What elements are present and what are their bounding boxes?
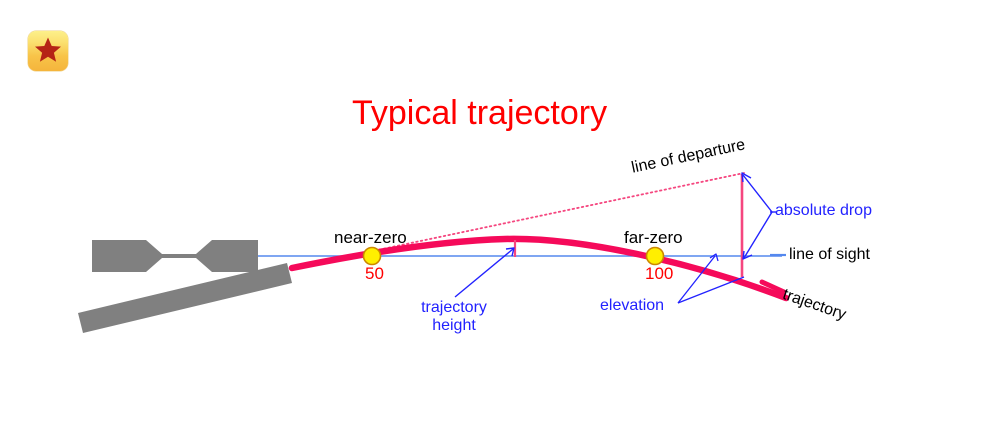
near-zero-marker[interactable]	[364, 248, 381, 265]
page-title: Typical trajectory	[352, 94, 607, 132]
elevation-label: elevation	[600, 297, 664, 315]
firearm-scope-icon	[92, 240, 258, 272]
diagram-canvas: Typical trajectory near-zero 50 far-zero…	[0, 0, 1000, 437]
trajectory-height-label: trajectory height	[408, 299, 500, 335]
absolute-drop-label: absolute drop	[775, 202, 872, 220]
far-zero-label: far-zero	[624, 228, 683, 247]
line-of-sight-label: line of sight	[789, 246, 870, 264]
near-zero-value: 50	[365, 264, 384, 283]
far-zero-value: 100	[645, 264, 673, 283]
far-zero-marker[interactable]	[647, 248, 664, 265]
firearm-barrel-icon	[78, 263, 292, 333]
absolute-drop-leader	[742, 173, 776, 259]
near-zero-label: near-zero	[334, 228, 407, 247]
